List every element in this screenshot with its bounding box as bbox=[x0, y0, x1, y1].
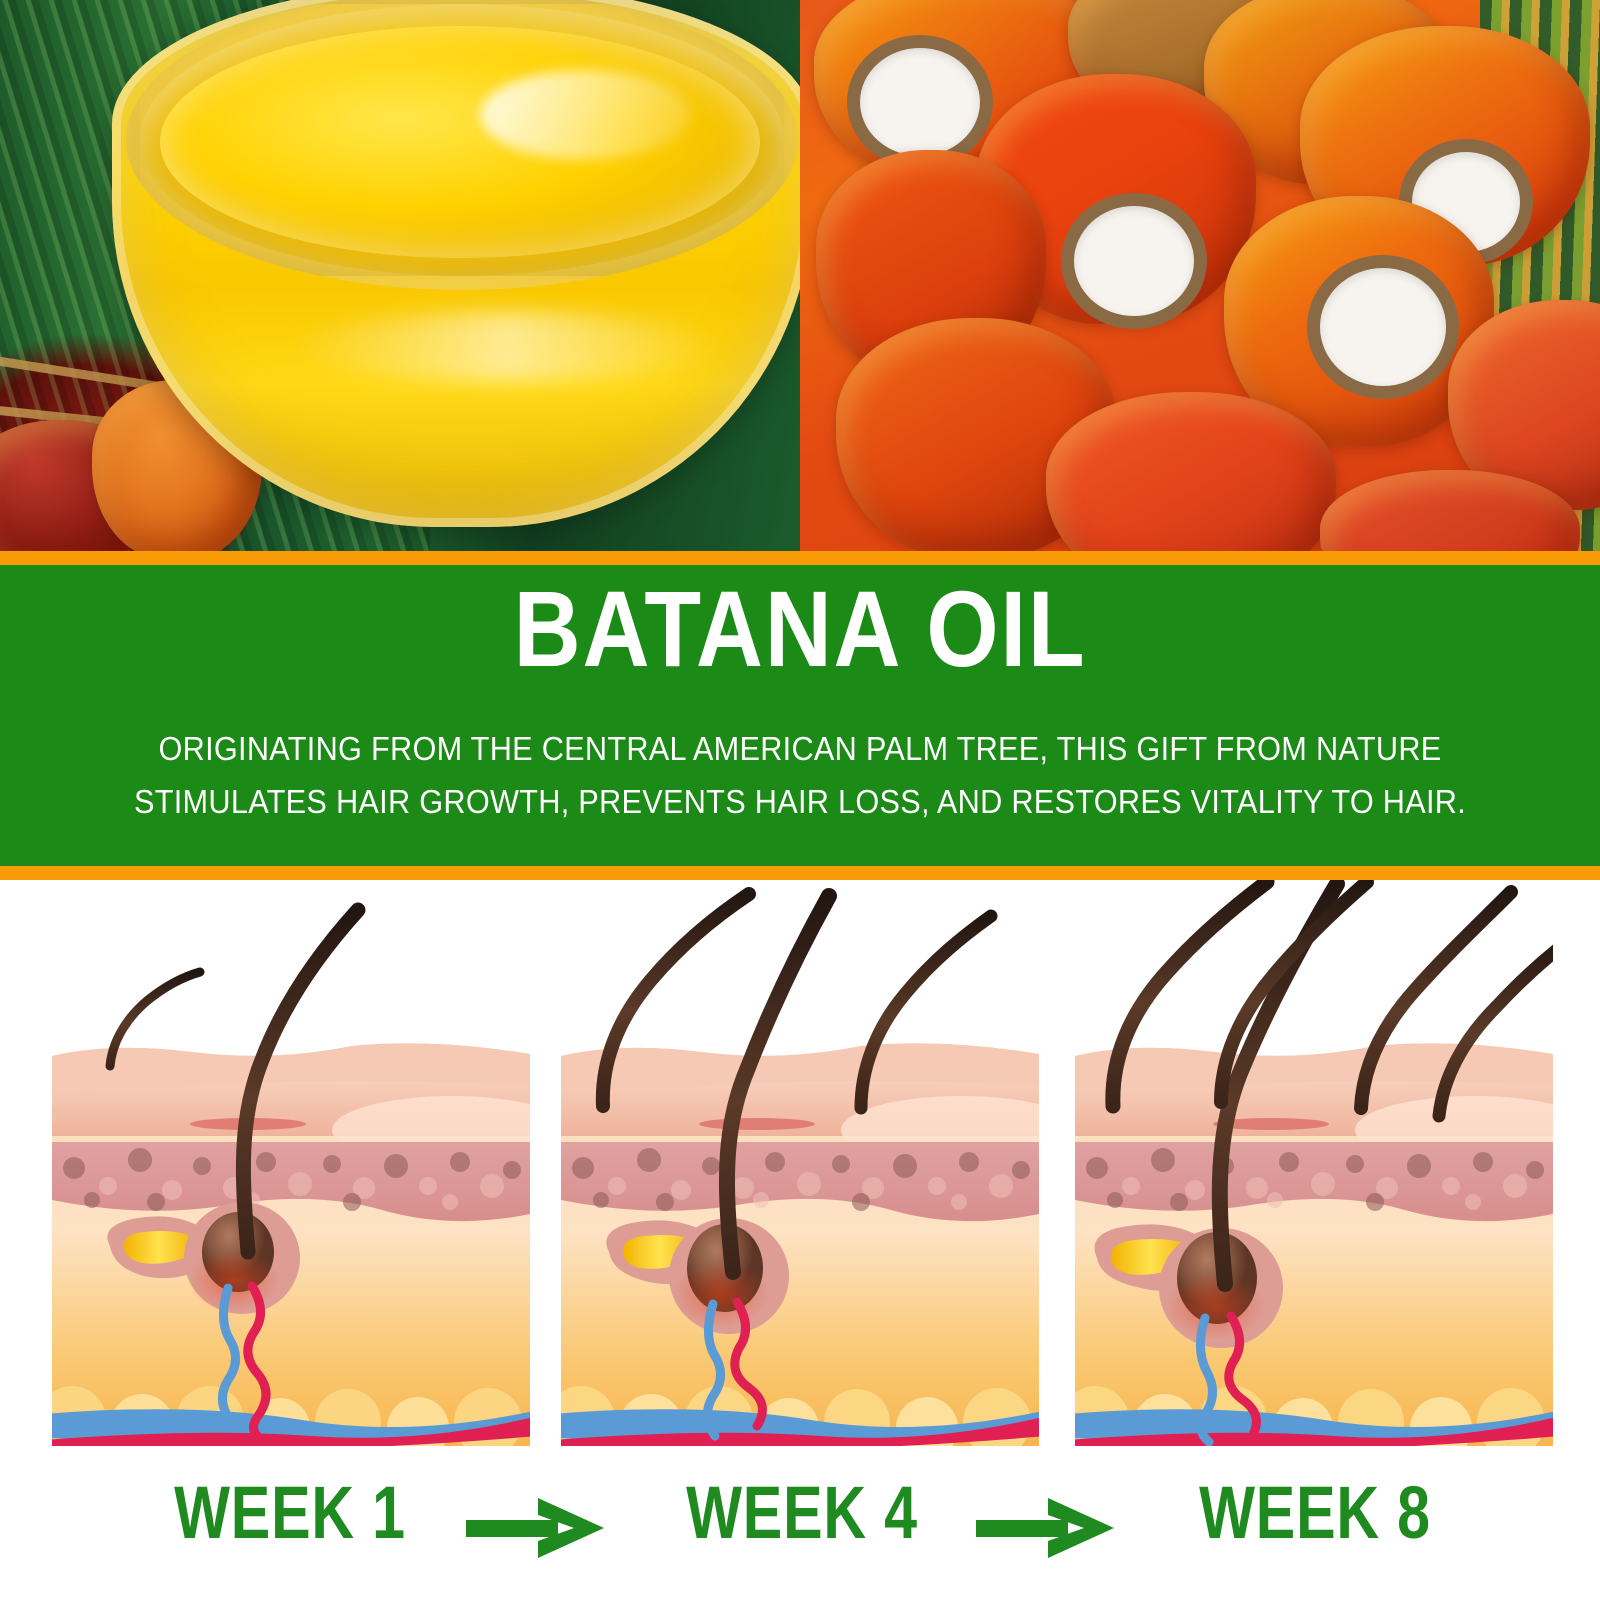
palm-kernel bbox=[860, 48, 980, 156]
arrow-right-icon bbox=[466, 1498, 606, 1558]
label-week-4: WEEK 4 bbox=[666, 1468, 938, 1558]
bottom-orange-divider bbox=[0, 866, 1600, 880]
label-week-1: WEEK 1 bbox=[154, 1468, 426, 1558]
arrow-right-icon bbox=[976, 1498, 1116, 1558]
banner-subtitle: ORIGINATING FROM THE CENTRAL AMERICAN PA… bbox=[112, 722, 1488, 829]
product-photo bbox=[0, 0, 1600, 551]
skin-crease bbox=[699, 1118, 815, 1130]
page-title: BATANA OIL bbox=[112, 571, 1488, 688]
green-banner: BATANA OIL ORIGINATING FROM THE CENTRAL … bbox=[0, 565, 1600, 866]
subtitle-line-1: ORIGINATING FROM THE CENTRAL AMERICAN PA… bbox=[112, 722, 1488, 775]
oil-surface bbox=[160, 26, 760, 258]
progression-diagrams bbox=[0, 880, 1600, 1446]
diagram-week-8 bbox=[1075, 880, 1553, 1446]
palm-fruit bbox=[1046, 392, 1336, 551]
label-week-8: WEEK 8 bbox=[1179, 1468, 1451, 1558]
bowl-highlight bbox=[292, 312, 722, 382]
subtitle-line-2: STIMULATES HAIR GROWTH, PREVENTS HAIR LO… bbox=[112, 775, 1488, 828]
bowl-specular-highlight bbox=[480, 70, 690, 160]
batana-oil-infographic: BATANA OIL ORIGINATING FROM THE CENTRAL … bbox=[0, 0, 1600, 1600]
hair-follicle-diagram bbox=[52, 880, 530, 1446]
palm-kernel bbox=[1074, 206, 1194, 316]
hair-follicle-diagram bbox=[561, 880, 1039, 1446]
oil-bowl-photo bbox=[0, 0, 800, 551]
hair-follicle-diagram bbox=[1075, 880, 1553, 1446]
top-orange-divider bbox=[0, 551, 1600, 565]
palm-kernel bbox=[1320, 268, 1446, 386]
diagram-week-4 bbox=[561, 880, 1039, 1446]
diagram-week-1 bbox=[52, 880, 530, 1446]
palm-fruit-photo bbox=[800, 0, 1600, 551]
progression-labels: WEEK 1 WEEK 4 WEEK 8 bbox=[0, 1446, 1600, 1600]
